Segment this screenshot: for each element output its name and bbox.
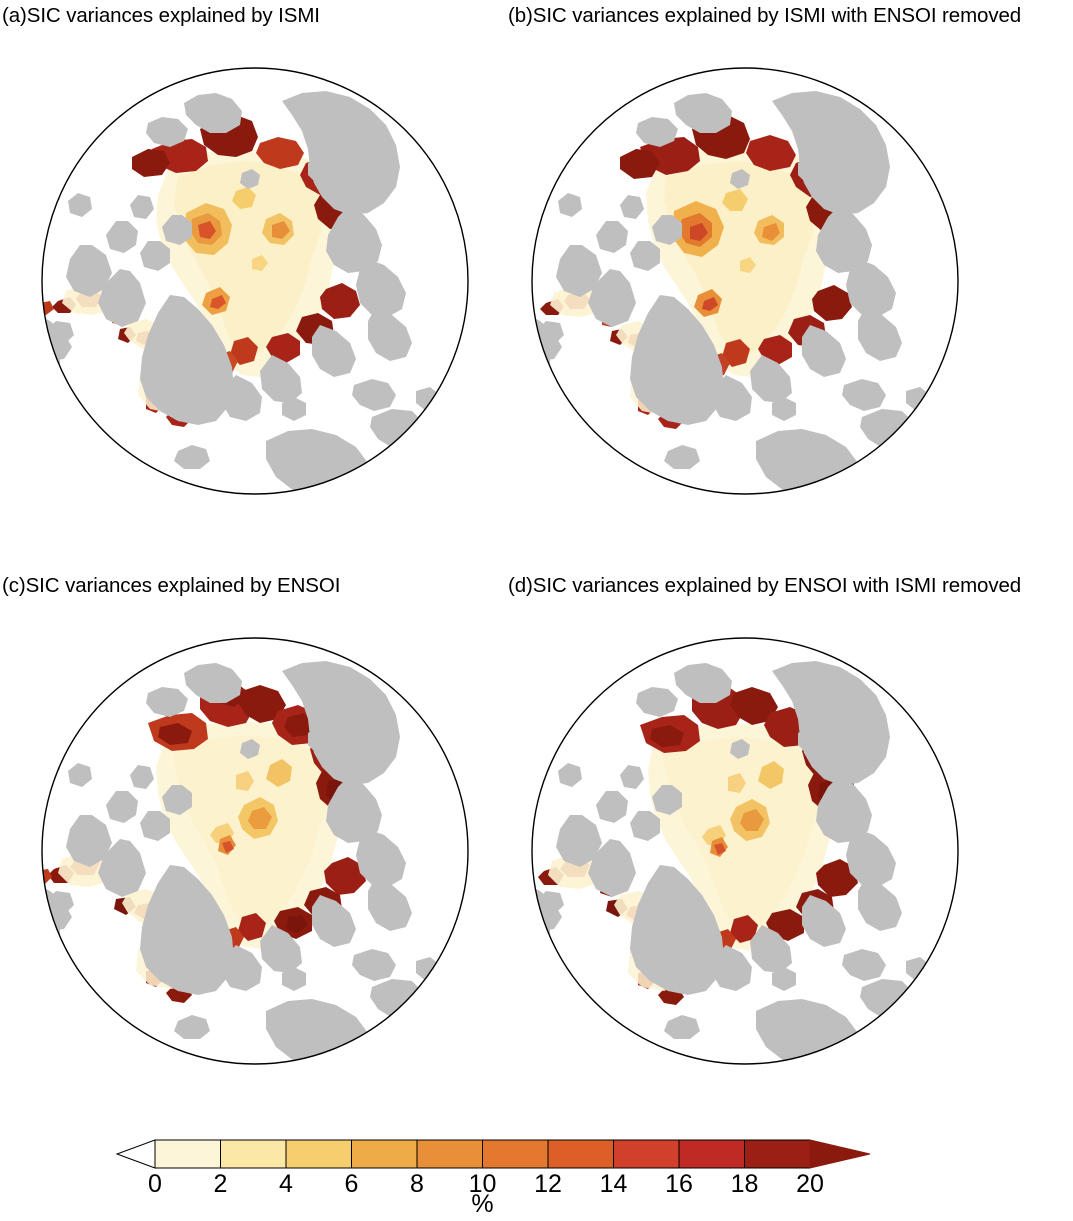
panel-c-title: (c)SIC variances explained by ENSOI [2,576,340,597]
panel-a-title: (a)SIC variances explained by ISMI [2,6,320,27]
colorbar-tick-6: 6 [345,1170,359,1198]
colorbar-tick-8: 8 [410,1170,424,1198]
colorbar-tick-16: 16 [665,1170,693,1198]
colorbar-band-2 [221,1140,287,1168]
panel-a-map[interactable] [20,45,490,515]
panel-b-title: (b)SIC variances explained by ISMI with … [508,6,1021,27]
panel-c-map[interactable] [20,615,490,1085]
colorbar-tick-4: 4 [279,1170,293,1198]
colorbar-bands [155,1140,810,1168]
colorbar-band-14 [614,1140,680,1168]
panel-d-title: (d)SIC variances explained by ENSOI with… [508,576,1021,597]
panel-d-map[interactable] [510,615,980,1085]
colorbar-tick-14: 14 [600,1170,628,1198]
panel-b-map[interactable] [510,45,980,515]
colorbar[interactable]: 02468101214161820 % [0,1128,1073,1221]
colorbar-unit-label: % [471,1190,493,1218]
colorbar-extend-low-arrow [117,1140,155,1168]
colorbar-band-0 [155,1140,221,1168]
colorbar-extend-high-arrow [810,1140,870,1168]
colorbar-tick-2: 2 [214,1170,228,1198]
colorbar-band-8 [417,1140,483,1168]
colorbar-tick-0: 0 [148,1170,162,1198]
colorbar-tick-12: 12 [534,1170,562,1198]
colorbar-band-6 [352,1140,418,1168]
colorbar-band-18 [745,1140,811,1168]
colorbar-band-10 [483,1140,549,1168]
figure-canvas: (a)SIC variances explained by ISMI [0,0,1073,1221]
colorbar-band-16 [679,1140,745,1168]
colorbar-tick-20: 20 [796,1170,824,1198]
colorbar-tick-18: 18 [731,1170,759,1198]
colorbar-band-4 [286,1140,352,1168]
colorbar-band-12 [548,1140,614,1168]
